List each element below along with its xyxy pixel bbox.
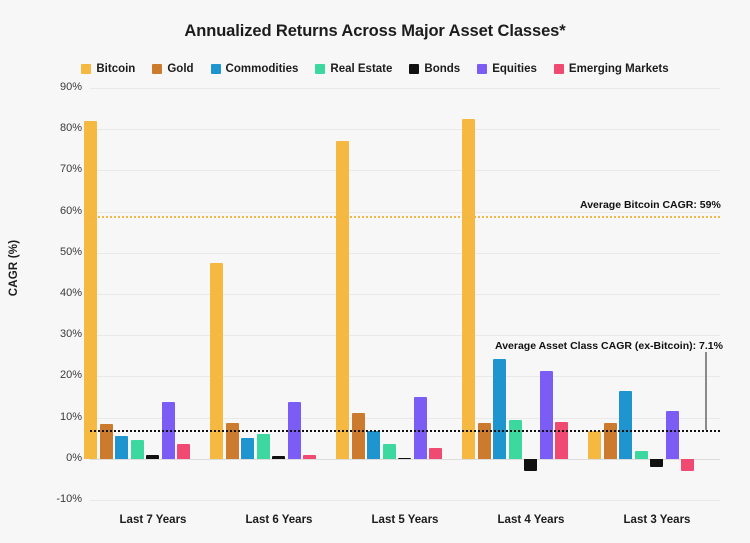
y-axis-tick-label: -10%	[32, 493, 82, 505]
bar[interactable]	[540, 371, 553, 458]
y-axis-tick-label: 30%	[32, 328, 82, 340]
gridline	[90, 253, 720, 254]
bar[interactable]	[666, 411, 679, 458]
gridline	[90, 500, 720, 501]
reference-line-label: Average Asset Class CAGR (ex-Bitcoin): 7…	[495, 340, 723, 352]
bar[interactable]	[257, 434, 270, 459]
y-axis-tick-label: 10%	[32, 411, 82, 423]
bar[interactable]	[462, 119, 475, 459]
bar[interactable]	[241, 438, 254, 459]
y-axis-tick-label: 90%	[32, 81, 82, 93]
y-axis-tick-label: 50%	[32, 246, 82, 258]
x-axis-tick-label: Last 6 Years	[216, 514, 342, 526]
bar[interactable]	[303, 455, 316, 459]
bar[interactable]	[131, 440, 144, 459]
bar[interactable]	[367, 431, 380, 459]
bar[interactable]	[681, 459, 694, 471]
gridline	[90, 170, 720, 171]
bar[interactable]	[429, 448, 442, 459]
gridline	[90, 376, 720, 377]
y-axis-tick-label: 40%	[32, 287, 82, 299]
bar[interactable]	[588, 431, 601, 459]
gridline	[90, 212, 720, 213]
x-axis-tick-label: Last 3 Years	[594, 514, 720, 526]
bar[interactable]	[272, 456, 285, 459]
y-axis-tick-label: 0%	[32, 452, 82, 464]
y-axis-tick-label: 20%	[32, 369, 82, 381]
plot-area: 90%80%70%60%50%40%30%20%10%0%-10%Last 7 …	[90, 88, 720, 500]
reference-line	[90, 216, 720, 218]
bar[interactable]	[509, 420, 522, 459]
chart-canvas: CAGR (%) 90%80%70%60%50%40%30%20%10%0%-1…	[0, 0, 750, 543]
gridline	[90, 88, 720, 89]
bar[interactable]	[146, 455, 159, 459]
reference-line	[90, 430, 720, 432]
bar[interactable]	[650, 459, 663, 467]
bar[interactable]	[555, 422, 568, 459]
bar[interactable]	[177, 444, 190, 459]
gridline	[90, 335, 720, 336]
x-axis-tick-label: Last 4 Years	[468, 514, 594, 526]
y-axis-title: CAGR (%)	[8, 228, 20, 308]
bar[interactable]	[383, 444, 396, 459]
bar[interactable]	[524, 459, 537, 471]
gridline	[90, 129, 720, 130]
bar[interactable]	[398, 458, 411, 460]
bar[interactable]	[84, 121, 97, 459]
bar[interactable]	[115, 436, 128, 459]
x-axis-tick-label: Last 5 Years	[342, 514, 468, 526]
annotation-leader-line	[705, 352, 707, 430]
bar[interactable]	[619, 391, 632, 459]
bar[interactable]	[414, 397, 427, 459]
gridline	[90, 294, 720, 295]
y-axis-tick-label: 80%	[32, 122, 82, 134]
bar[interactable]	[478, 423, 491, 459]
bar[interactable]	[604, 423, 617, 459]
reference-line-label: Average Bitcoin CAGR: 59%	[580, 199, 721, 211]
bar[interactable]	[226, 423, 239, 459]
y-axis-tick-label: 70%	[32, 163, 82, 175]
bar[interactable]	[493, 359, 506, 459]
x-axis-tick-label: Last 7 Years	[90, 514, 216, 526]
bar[interactable]	[352, 413, 365, 458]
y-axis-tick-label: 60%	[32, 205, 82, 217]
bar[interactable]	[336, 141, 349, 459]
bar[interactable]	[635, 451, 648, 458]
